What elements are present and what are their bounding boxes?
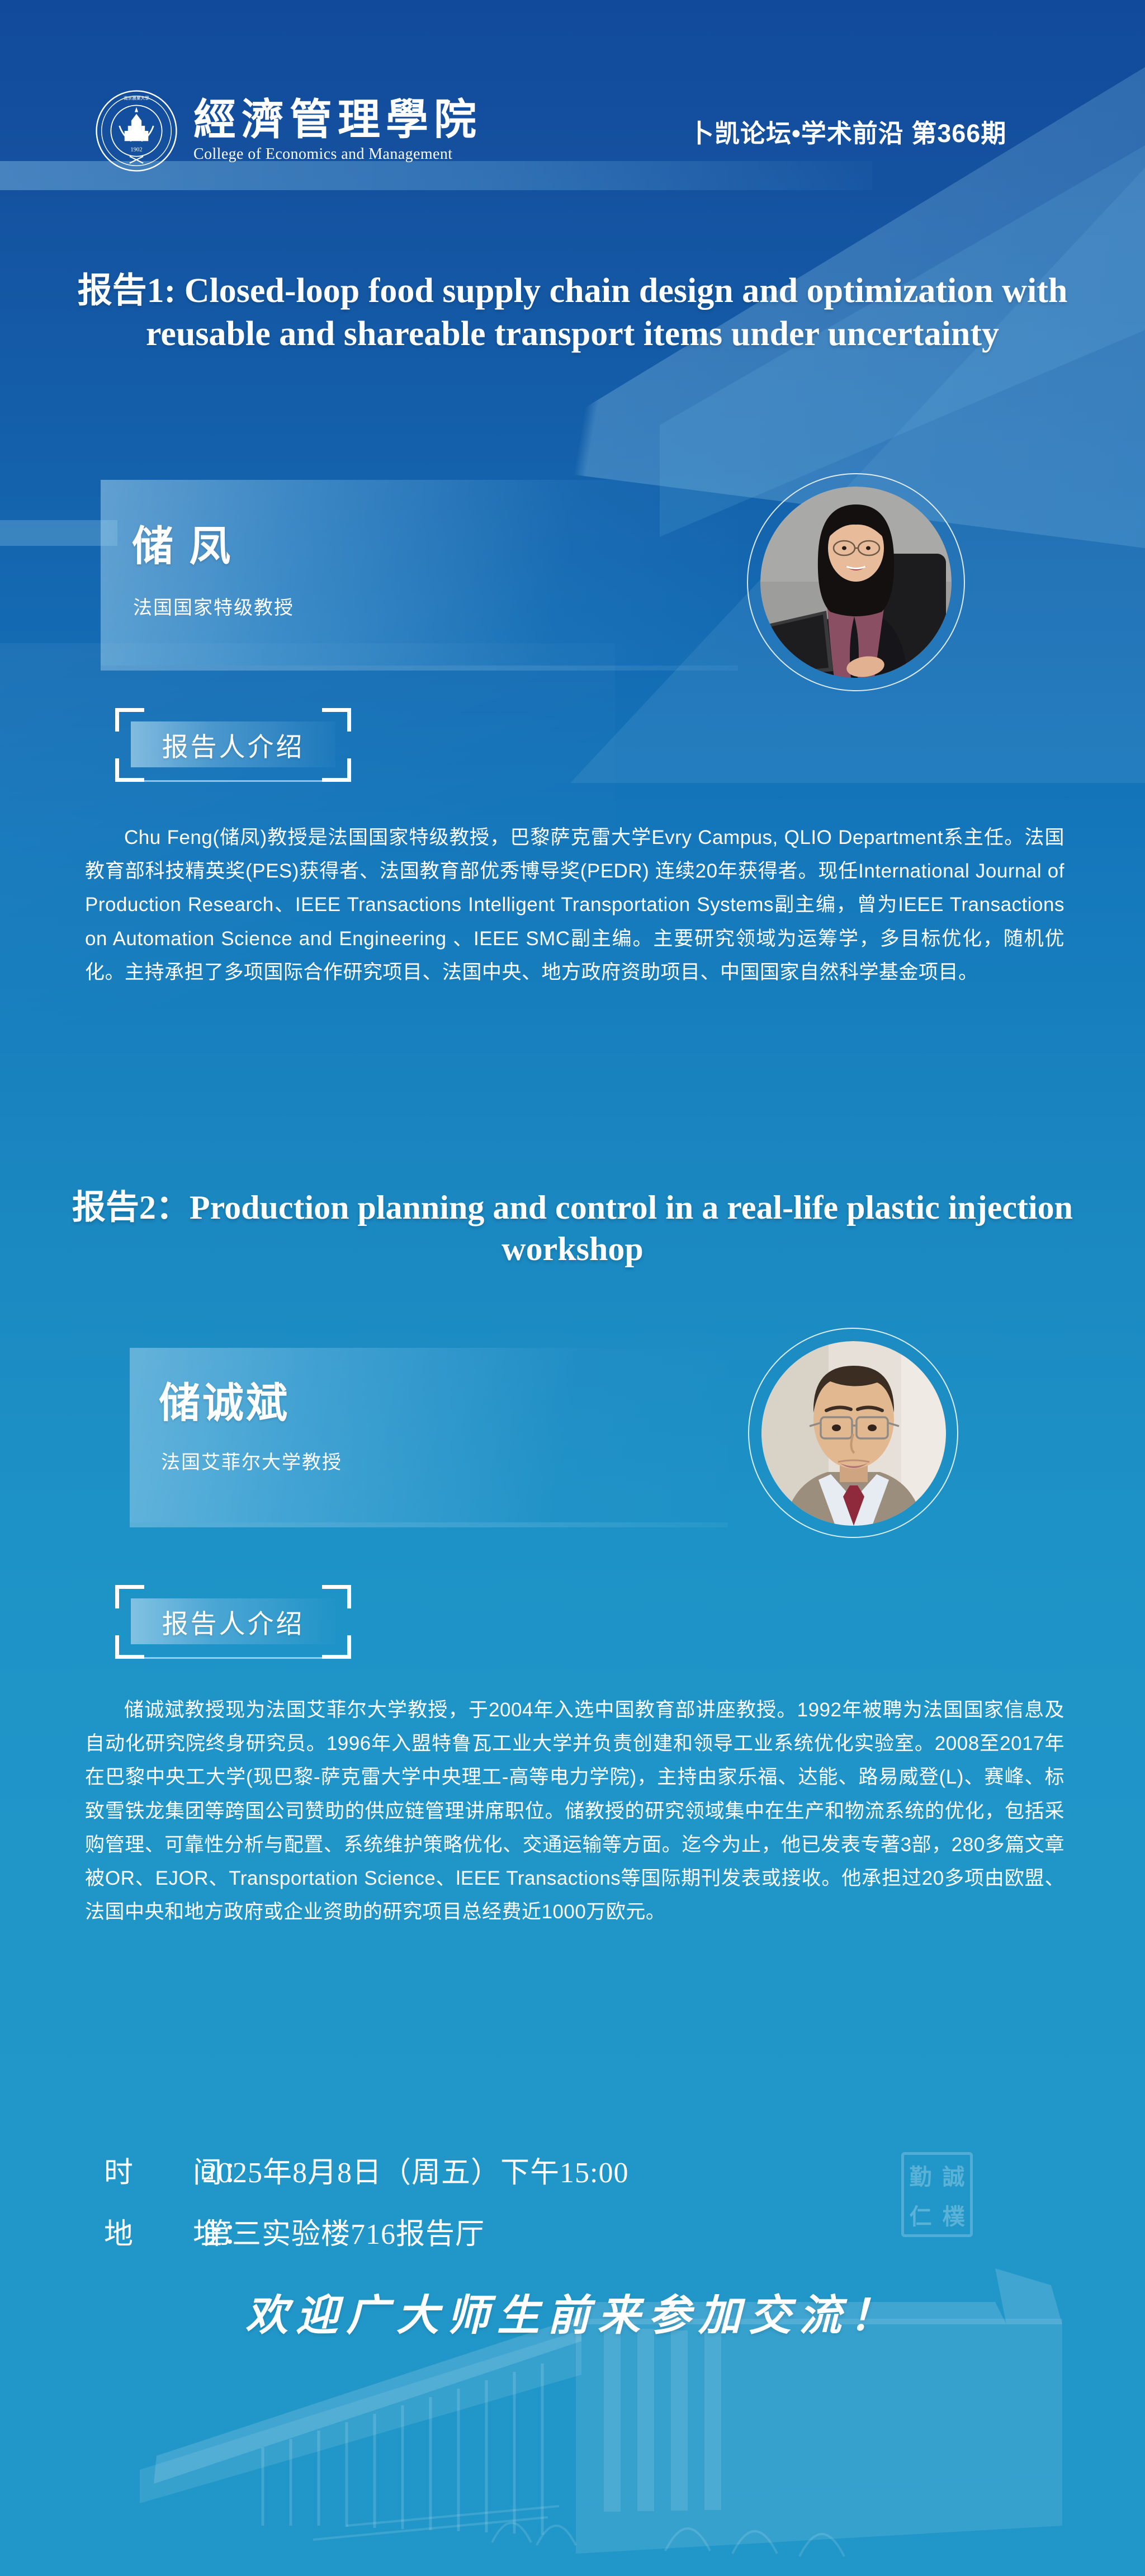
university-logo: 1902 南京農業大學 經濟管理學院 College of Economics … xyxy=(94,88,482,173)
seal-char-4: 樸 xyxy=(943,2198,965,2231)
section-label-text: 报告人介绍 xyxy=(162,725,305,764)
speaker-2-card: 储诚斌 法国艾菲尔大学教授 xyxy=(130,1348,1019,1532)
speaker-1-name: 储 凤 xyxy=(132,526,233,567)
college-name-en: College of Economics and Management xyxy=(193,146,482,163)
event-time-label: 时 间： xyxy=(104,2149,202,2191)
speaker-1-card: 储 凤 法国国家特级教授 xyxy=(101,480,1018,676)
event-time-value: 2025年8月8日（周五）下午15:00 xyxy=(202,2157,628,2189)
seal-char-3: 仁 xyxy=(910,2198,932,2231)
speaker-1-band xyxy=(101,480,738,666)
motto-seal-stamp: 勤 誠 仁 樸 xyxy=(901,2152,973,2237)
speaker-2-band xyxy=(130,1348,728,1522)
section-label-text: 报告人介绍 xyxy=(162,1602,305,1641)
speaker-1-bio: Chu Feng(储凤)教授是法国国家特级教授，巴黎萨克雷大学Evry Camp… xyxy=(85,821,1064,989)
talk-1-title: 报告1: Closed-loop food supply chain desig… xyxy=(47,270,1098,356)
svg-text:1902: 1902 xyxy=(130,147,142,153)
speaker-1-role: 法国国家特级教授 xyxy=(133,598,294,617)
poster-header: 1902 南京農業大學 經濟管理學院 College of Economics … xyxy=(0,84,1145,179)
event-time-line: 时 间：2025年8月8日（周五）下午15:00 xyxy=(104,2149,628,2191)
welcome-message: 欢迎广大师生前来参加交流！ xyxy=(0,2281,1145,2342)
speaker-1-photo xyxy=(760,487,952,678)
svg-text:南京農業大學: 南京農業大學 xyxy=(124,95,149,101)
forum-series-label: 卜凯论坛•学术前沿 第366期 xyxy=(689,113,1006,149)
seal-char-1: 勤 xyxy=(910,2159,932,2191)
speaker-2-bio: 储诚斌教授现为法国艾菲尔大学教授，于2004年入选中国教育部讲座教授。1992年… xyxy=(85,1693,1064,1929)
college-name-cn: 經濟管理學院 xyxy=(193,99,482,141)
speaker-2-role: 法国艾菲尔大学教授 xyxy=(161,1453,342,1472)
event-place-line: 地 址：第三实验楼716报告厅 xyxy=(104,2210,485,2252)
speaker-2-section-label: 报告人介绍 xyxy=(102,1583,365,1661)
section-label-pill: 报告人介绍 xyxy=(131,1598,335,1644)
event-place-label: 地 址： xyxy=(104,2210,202,2252)
seal-char-2: 誠 xyxy=(943,2159,965,2191)
speaker-2-name: 储诚斌 xyxy=(159,1383,290,1424)
event-place-value: 第三实验楼716报告厅 xyxy=(202,2219,485,2251)
university-seal-icon: 1902 南京農業大學 xyxy=(94,88,179,173)
speaker-2-photo xyxy=(761,1341,946,1526)
section-label-pill: 报告人介绍 xyxy=(131,721,335,767)
talk-2-title: 报告2：Production planning and control in a… xyxy=(47,1187,1098,1270)
speaker-1-section-label: 报告人介绍 xyxy=(102,706,365,784)
